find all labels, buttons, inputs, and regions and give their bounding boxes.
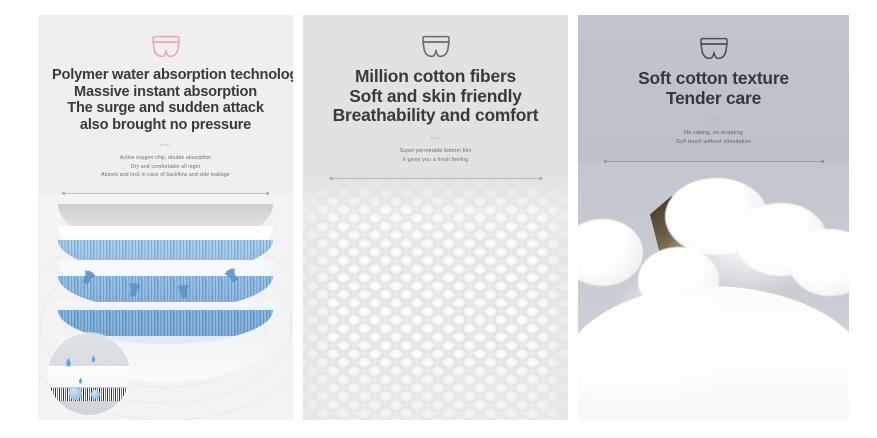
subtext-line: It gives you a fresh feeling: [317, 156, 554, 165]
flow-arrow: [177, 285, 190, 298]
briefs-icon: [52, 31, 279, 61]
absorption-layers: [38, 198, 293, 358]
headline-line: Tender care: [592, 89, 835, 109]
panel-mini-label: detail: [317, 135, 554, 142]
product-feature-board: Polymer water absorption technology Mass…: [0, 0, 877, 438]
panel-mini-label: detail: [52, 142, 279, 149]
panel-subtext: No caking, no dropping Soft touch withou…: [592, 129, 835, 147]
panel-mini-label: detail: [592, 117, 835, 124]
headline-line: Massive instant absorption: [52, 84, 279, 101]
section-divider: [331, 178, 541, 179]
briefs-icon: [592, 33, 835, 63]
section-divider: [605, 161, 823, 162]
texture-shading-overlay: [303, 179, 568, 420]
panel-subtext: Super permeable bottom film It gives you…: [317, 147, 554, 165]
panel-header: Million cotton fibers Soft and skin frie…: [303, 15, 568, 179]
headline-line: The surge and sudden attack: [52, 100, 279, 117]
headline-line: Polymer water absorption technology: [52, 67, 279, 84]
headline-line: also brought no pressure: [52, 117, 279, 134]
feature-panel-absorption: Polymer water absorption technology Mass…: [38, 15, 293, 420]
headline-line: Soft and skin friendly: [317, 87, 554, 107]
headline-line: Soft cotton texture: [592, 69, 835, 89]
briefs-icon: [317, 31, 554, 61]
subtext-line: Absorb and lock in case of backflow and …: [52, 171, 279, 179]
panel-headline: Million cotton fibers Soft and skin frie…: [317, 67, 554, 126]
subtext-line: Dry and comfortable all night: [52, 163, 279, 171]
magnified-inset: [48, 333, 130, 415]
feature-panel-soft-cotton: Soft cotton texture Tender care detail N…: [578, 15, 849, 420]
panel-headline: Polymer water absorption technology Mass…: [52, 67, 279, 133]
panel-header: Soft cotton texture Tender care detail N…: [578, 15, 849, 162]
section-divider: [63, 193, 268, 194]
panel-subtext: Active oxygen chip, double absorption Dr…: [52, 154, 279, 179]
fiber-haze-overlay: [578, 162, 849, 420]
flow-arrow: [127, 283, 141, 296]
feature-panel-cotton-fibers: Million cotton fibers Soft and skin frie…: [303, 15, 568, 420]
subtext-line: Active oxygen chip, double absorption: [52, 154, 279, 162]
inset-surface-layer: [48, 366, 130, 387]
absorption-layer-illustration: [38, 194, 293, 420]
panel-headline: Soft cotton texture Tender care: [592, 69, 835, 108]
water-droplet: [91, 355, 95, 362]
water-droplet: [66, 358, 71, 367]
quilted-cotton-texture-photo: [303, 179, 568, 420]
subtext-line: No caking, no dropping: [592, 129, 835, 138]
panel-header: Polymer water absorption technology Mass…: [38, 15, 293, 194]
headline-line: Breathability and comfort: [317, 106, 554, 126]
inset-gel-bead: [91, 390, 100, 399]
subtext-line: Soft touch without stimulation: [592, 138, 835, 147]
raw-cotton-boll-photo: [578, 162, 849, 420]
inset-polymer-granules: [51, 387, 126, 402]
headline-line: Million cotton fibers: [317, 67, 554, 87]
subtext-line: Super permeable bottom film: [317, 147, 554, 156]
